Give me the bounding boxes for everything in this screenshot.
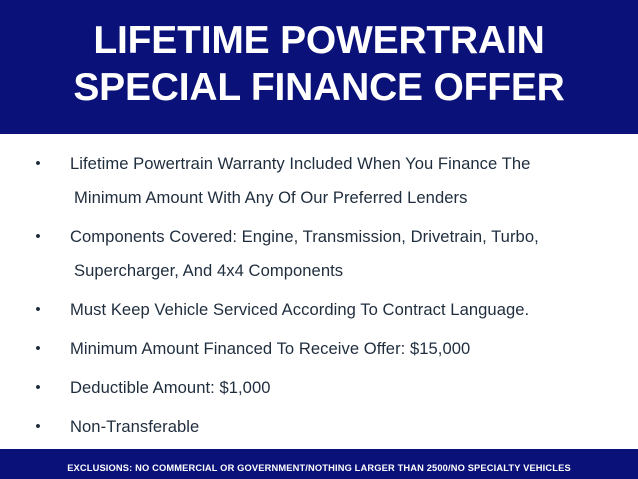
- list-item-text-continued: Supercharger, And 4x4 Components: [70, 254, 620, 288]
- bullet-marker-icon: •: [32, 293, 44, 327]
- list-item: • Must Keep Vehicle Serviced According T…: [18, 293, 620, 327]
- bullet-marker-icon: •: [32, 147, 44, 181]
- list-item-text: Must Keep Vehicle Serviced According To …: [70, 293, 620, 327]
- list-item-text: Minimum Amount Financed To Receive Offer…: [70, 332, 620, 366]
- bullet-marker-icon: •: [32, 371, 44, 405]
- list-item-text: Non-Transferable: [70, 410, 620, 444]
- list-item: • Non-Transferable: [18, 410, 620, 444]
- offer-slide: LIFETIME POWERTRAIN SPECIAL FINANCE OFFE…: [0, 0, 638, 479]
- list-item-text: Deductible Amount: $1,000: [70, 371, 620, 405]
- bullet-marker-icon: •: [32, 332, 44, 366]
- list-item: • Deductible Amount: $1,000: [18, 371, 620, 405]
- list-item: • Minimum Amount Financed To Receive Off…: [18, 332, 620, 366]
- list-item-text: Components Covered: Engine, Transmission…: [70, 220, 620, 254]
- bullet-marker-icon: •: [32, 220, 44, 254]
- list-item-text: Lifetime Powertrain Warranty Included Wh…: [70, 147, 620, 181]
- exclusions-disclaimer: EXCLUSIONS: NO COMMERCIAL OR GOVERNMENT/…: [67, 462, 571, 474]
- page-title-line-2: SPECIAL FINANCE OFFER: [73, 64, 564, 111]
- offer-terms-list: • Lifetime Powertrain Warranty Included …: [18, 147, 620, 444]
- header-banner: LIFETIME POWERTRAIN SPECIAL FINANCE OFFE…: [0, 0, 638, 134]
- list-item: • Lifetime Powertrain Warranty Included …: [18, 147, 620, 215]
- bullet-marker-icon: •: [32, 410, 44, 444]
- footer-banner: EXCLUSIONS: NO COMMERCIAL OR GOVERNMENT/…: [0, 449, 638, 479]
- list-item-text-continued: Minimum Amount With Any Of Our Preferred…: [70, 181, 620, 215]
- page-title-line-1: LIFETIME POWERTRAIN: [93, 17, 544, 64]
- offer-details-body: • Lifetime Powertrain Warranty Included …: [0, 134, 638, 449]
- list-item: • Components Covered: Engine, Transmissi…: [18, 220, 620, 288]
